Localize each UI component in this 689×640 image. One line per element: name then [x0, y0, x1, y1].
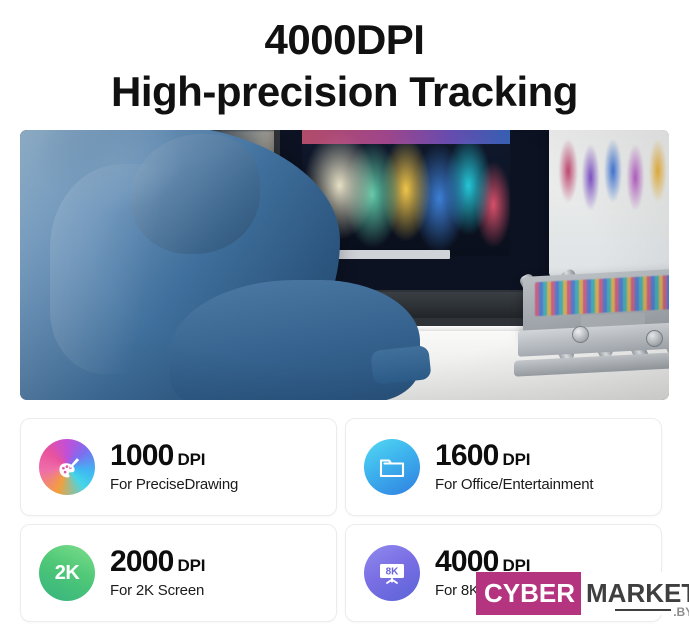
dpi-unit: DPI	[178, 557, 206, 574]
2k-badge-label: 2K	[55, 562, 80, 585]
dpi-card-1000[interactable]: 1000 DPI For PreciseDrawing	[20, 418, 337, 516]
dpi-card-text: 1000 DPI For PreciseDrawing	[110, 441, 238, 493]
dpi-value: 1600	[435, 441, 499, 471]
svg-text:8K: 8K	[386, 567, 400, 578]
dpi-value: 2000	[110, 547, 174, 577]
laptop-wallpaper	[549, 130, 669, 238]
dpi-value: 1000	[110, 441, 174, 471]
dpi-card-text: 2000 DPI For 2K Screen	[110, 547, 205, 599]
monitor-wallpaper-top	[302, 130, 510, 144]
dpi-value-line: 1600 DPI	[435, 441, 593, 471]
hero-scene	[20, 130, 669, 400]
hero-product-photo	[20, 130, 669, 400]
8k-monitor-icon: 8K	[364, 545, 420, 601]
stand-hinge-knob	[646, 330, 663, 347]
page-title-line-1: 4000DPI	[0, 14, 689, 66]
watermark-domain-text: .BY	[673, 605, 689, 619]
dpi-value-line: 1000 DPI	[110, 441, 238, 471]
page-title: 4000DPI High-precision Tracking	[0, 14, 689, 118]
dpi-unit: DPI	[503, 451, 531, 468]
laptop-screen	[549, 130, 669, 276]
stand-hinge-knob	[572, 326, 589, 343]
dpi-card-2000[interactable]: 2K 2000 DPI For 2K Screen	[20, 524, 337, 622]
dpi-value-line: 2000 DPI	[110, 547, 205, 577]
watermark-right-block: MARKET .BY	[581, 572, 689, 615]
cybermarket-watermark: CYBER MARKET .BY	[476, 572, 681, 615]
page-title-line-2: High-precision Tracking	[0, 66, 689, 118]
shirt-cuff	[370, 345, 431, 385]
laptop-keyboard-rgb	[535, 274, 669, 316]
watermark-underline	[615, 609, 671, 611]
folder-icon	[364, 439, 420, 495]
watermark-cyber-text: CYBER	[476, 572, 581, 615]
dpi-card-text: 1600 DPI For Office/Entertainment	[435, 441, 593, 493]
2k-badge-icon: 2K	[39, 545, 95, 601]
dpi-description: For 2K Screen	[110, 582, 205, 599]
dpi-description: For PreciseDrawing	[110, 476, 238, 493]
paint-palette-icon	[39, 439, 95, 495]
dpi-unit: DPI	[178, 451, 206, 468]
dpi-card-1600[interactable]: 1600 DPI For Office/Entertainment	[345, 418, 662, 516]
dpi-description: For Office/Entertainment	[435, 476, 593, 493]
